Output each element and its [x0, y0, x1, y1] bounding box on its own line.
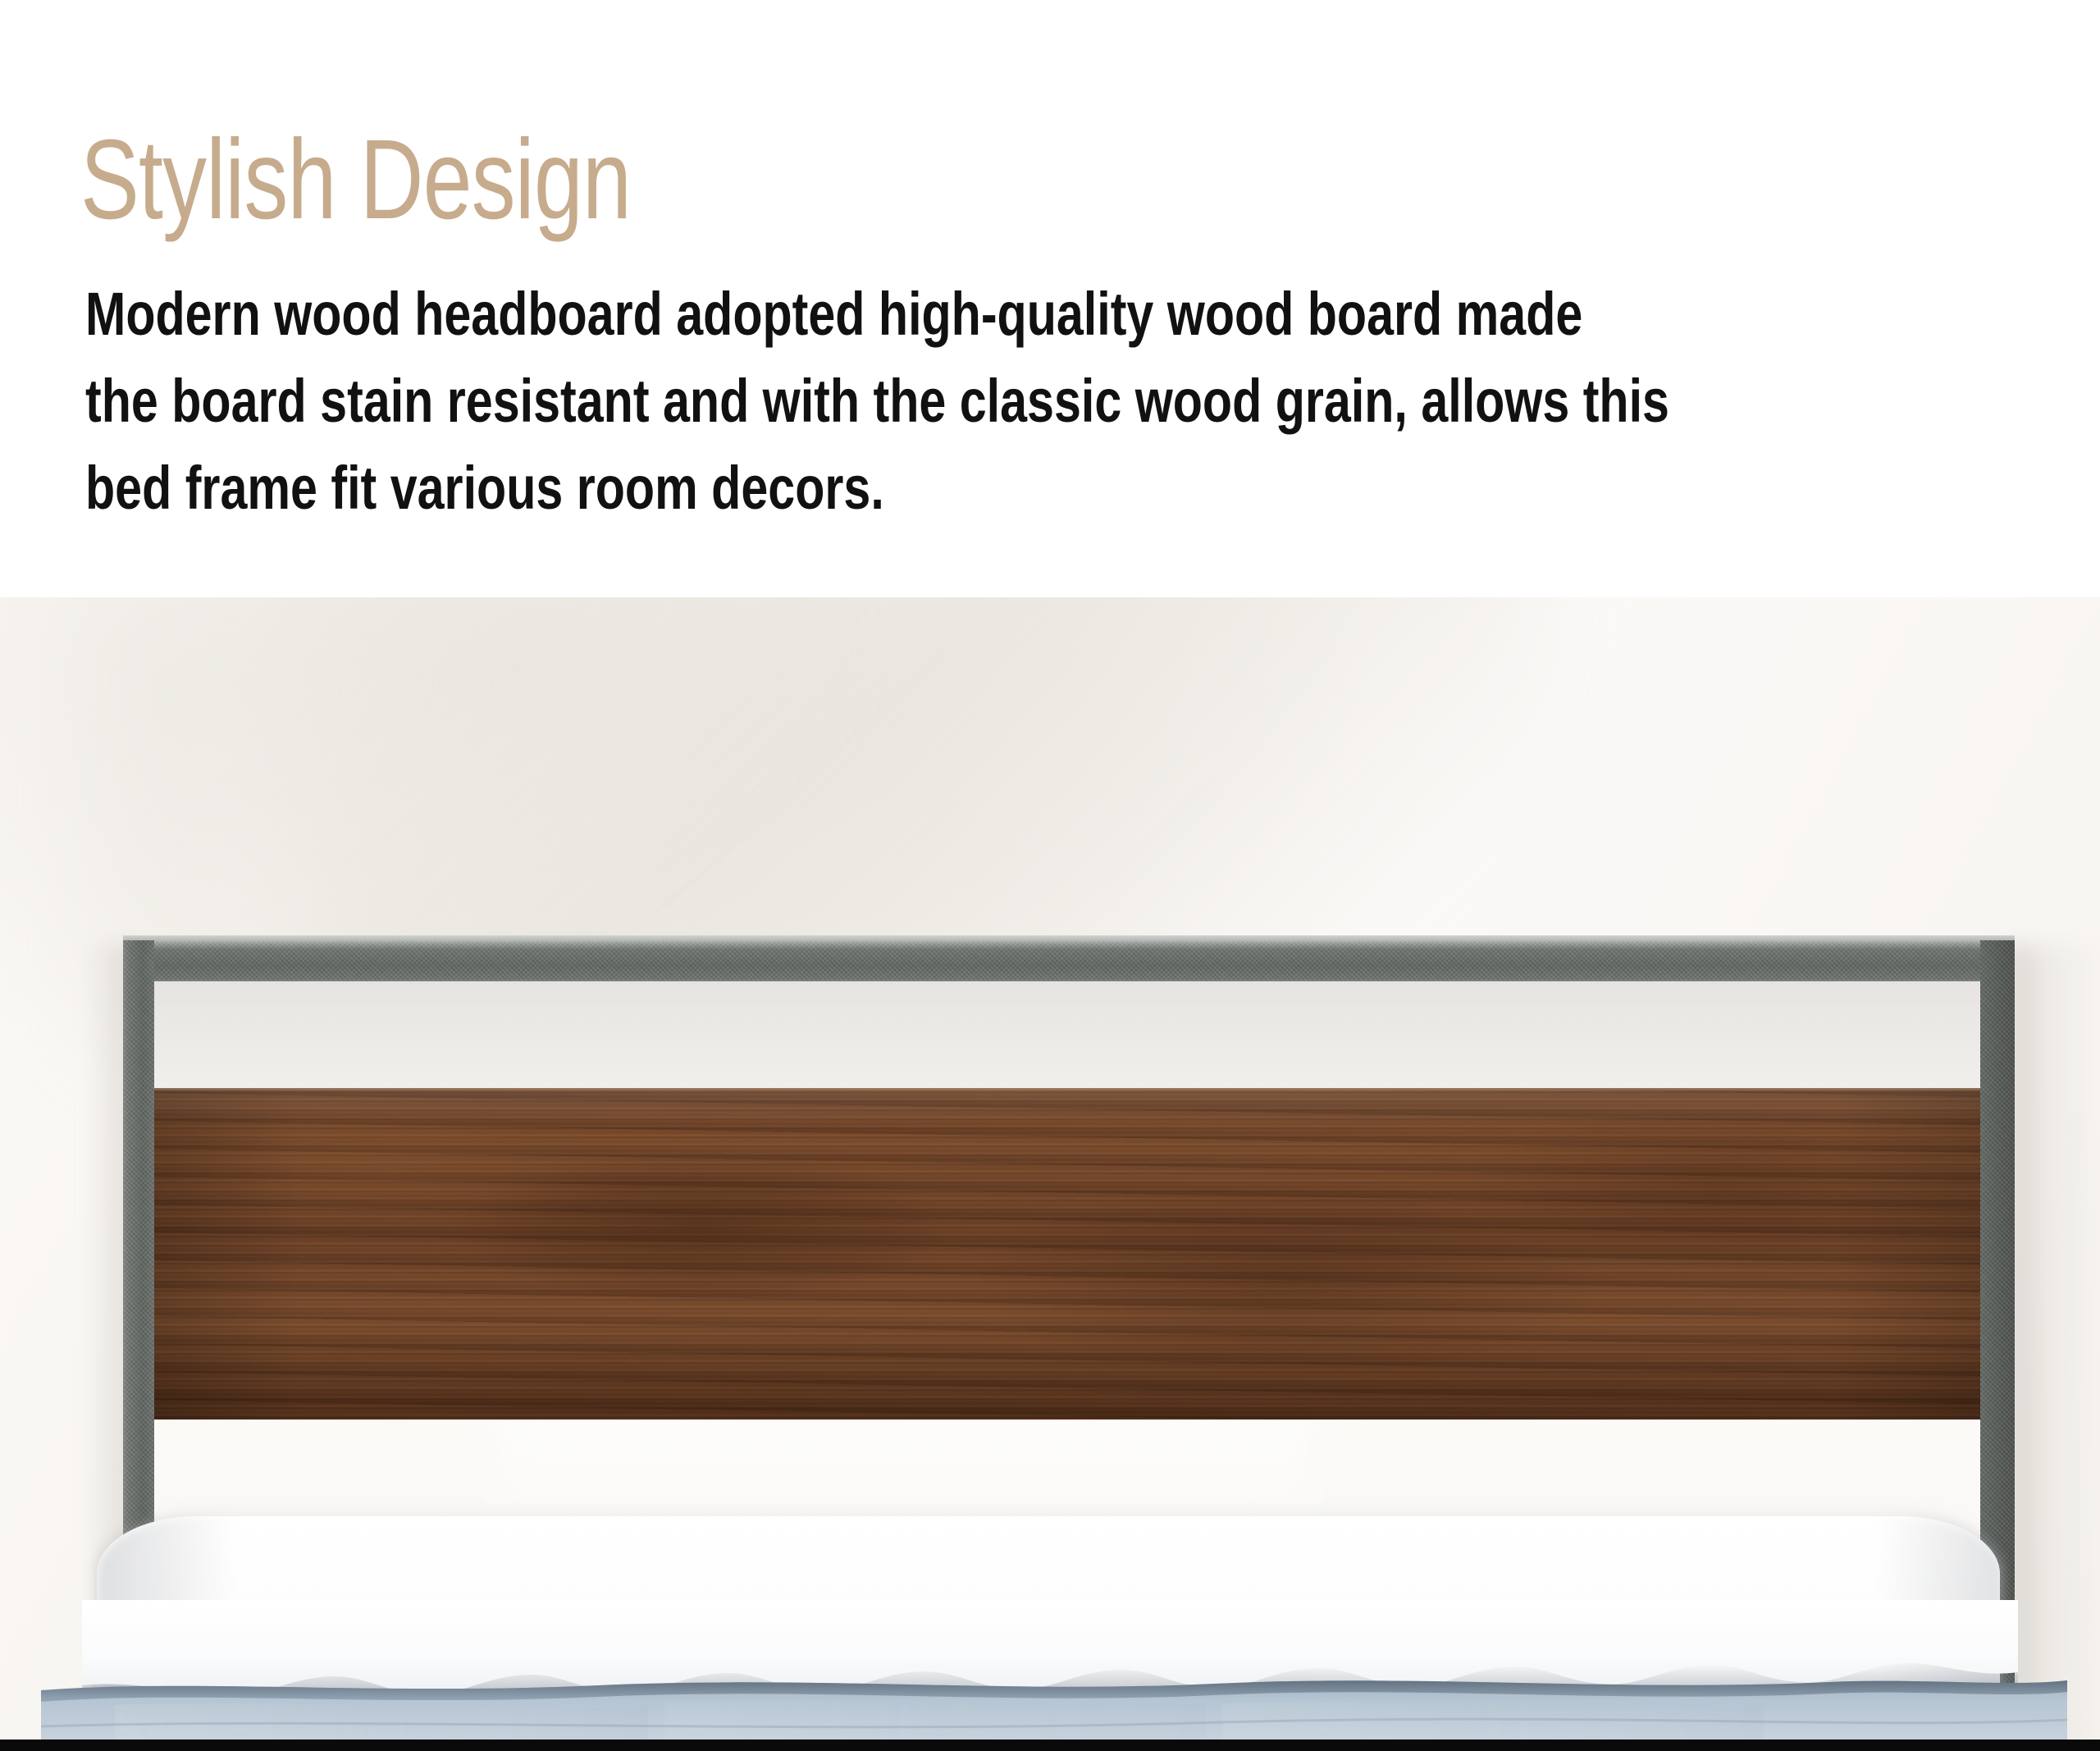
- wood-top-edge-highlight: [154, 1088, 1980, 1091]
- page-title: Stylish Design: [80, 123, 631, 236]
- bed: [0, 1493, 2100, 1751]
- wood-shading: [154, 1088, 1980, 1420]
- wood-panel: [154, 1088, 1980, 1420]
- bottom-crop-bar: [0, 1740, 2100, 1751]
- product-feature-page: Stylish Design Modern wood headboard ado…: [0, 0, 2100, 1751]
- description-line: the board stain resistant and with the c…: [85, 358, 1713, 445]
- text-panel: Stylish Design Modern wood headboard ado…: [0, 0, 2100, 597]
- frame-top-rail: [123, 940, 2015, 981]
- description-line: bed frame fit various room decors.: [85, 445, 1713, 532]
- description-text: Modern wood headboard adopted high-quali…: [85, 271, 1713, 532]
- product-photo: [0, 597, 2100, 1751]
- description-line: Modern wood headboard adopted high-quali…: [85, 271, 1713, 358]
